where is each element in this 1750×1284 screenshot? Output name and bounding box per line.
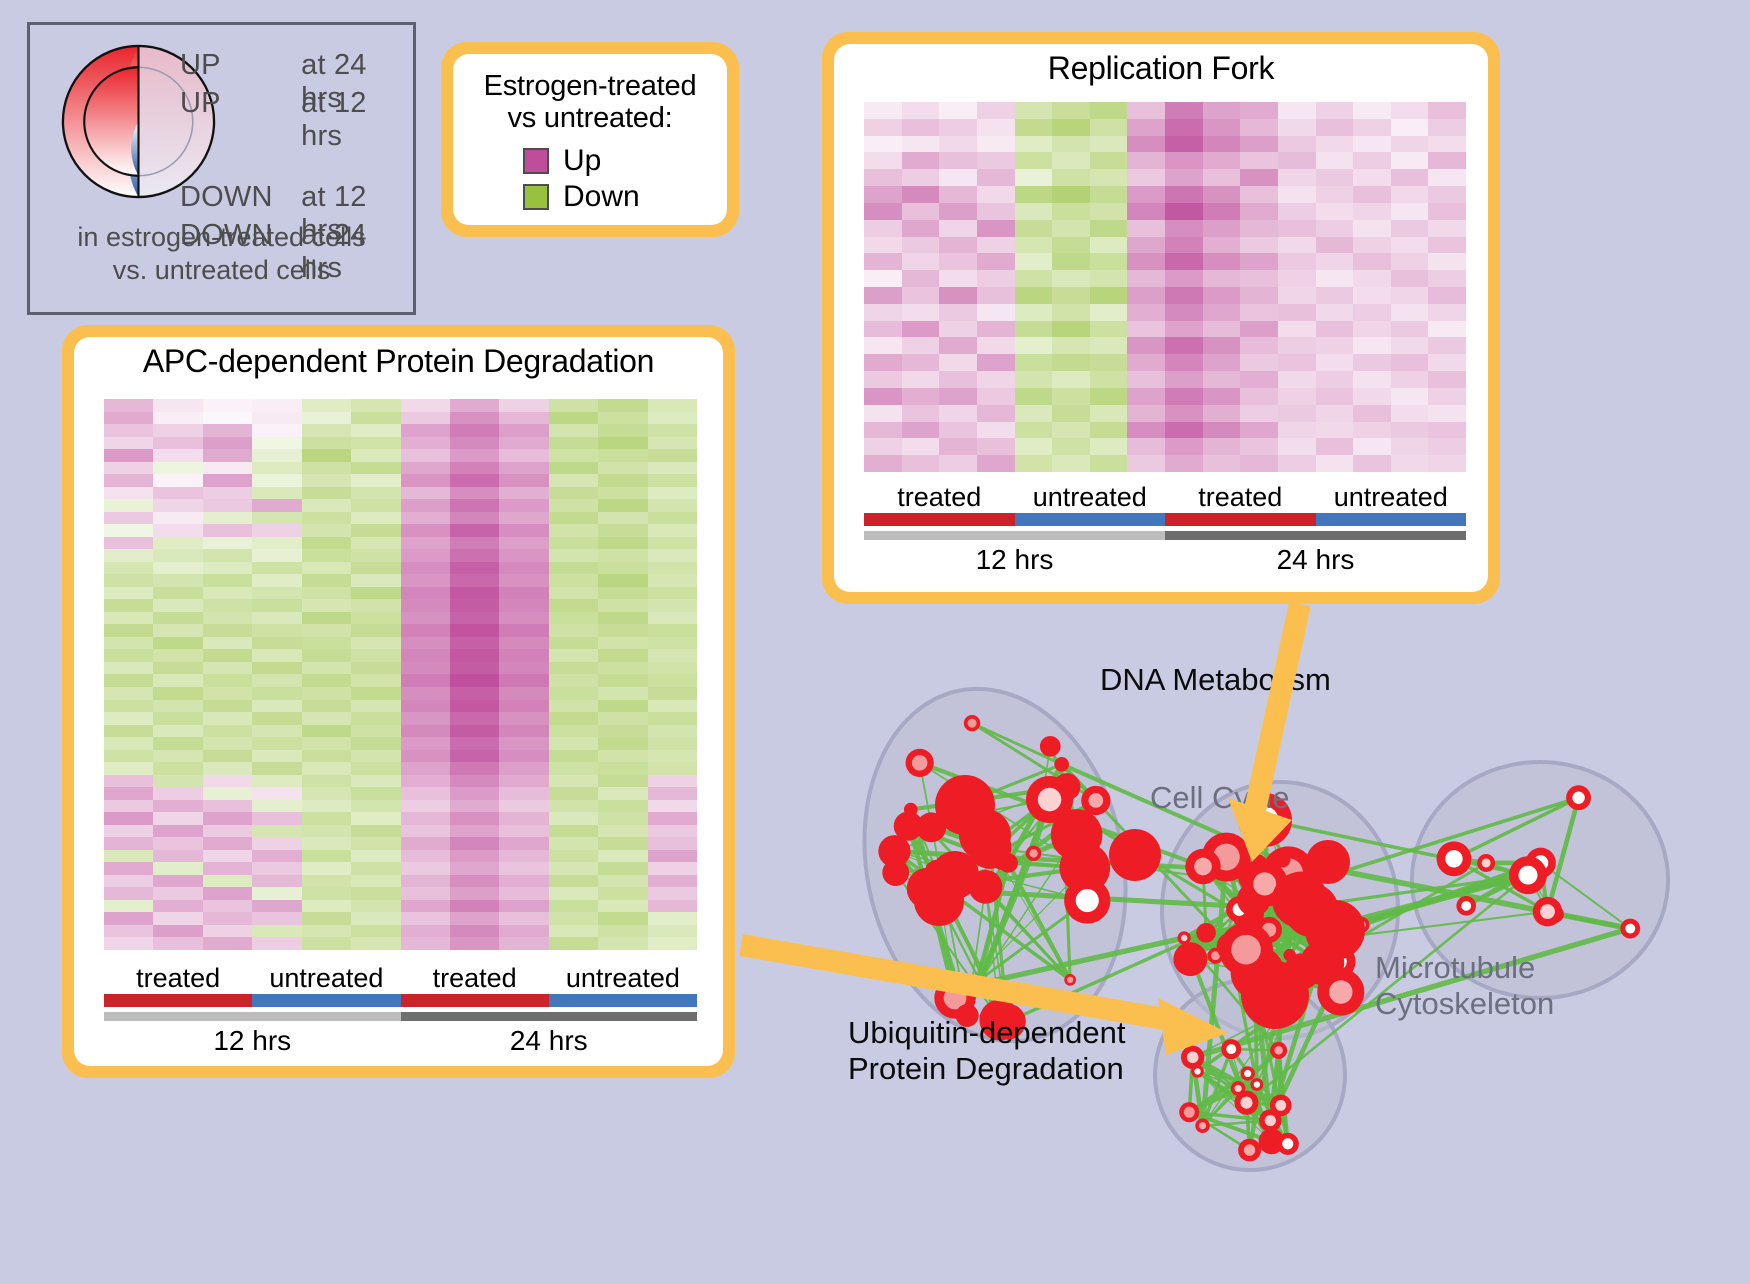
heatmap-cell xyxy=(902,270,940,287)
heatmap-cell xyxy=(401,837,450,850)
heatmap-cell xyxy=(1316,152,1354,169)
timepoint-bar-segment xyxy=(1165,531,1466,540)
network-node xyxy=(1277,1133,1299,1155)
heatmap-cell xyxy=(153,499,202,512)
heatmap-cell xyxy=(902,455,940,472)
heatmap-cell xyxy=(1316,371,1354,388)
heatmap-cell xyxy=(1316,422,1354,439)
heatmap-cell xyxy=(1090,321,1128,338)
heatmap-cell xyxy=(1015,220,1053,237)
heatmap-cell xyxy=(450,462,499,475)
heatmap-cell xyxy=(1090,371,1128,388)
heatmap-cell xyxy=(153,424,202,437)
heatmap-cell xyxy=(153,599,202,612)
timepoint-label: 24 hrs xyxy=(401,1025,698,1057)
network-hub-node xyxy=(931,851,979,899)
heatmap-cell xyxy=(1240,169,1278,186)
heatmap-cell xyxy=(450,612,499,625)
heatmap-cell xyxy=(499,624,548,637)
heatmap-cell xyxy=(499,862,548,875)
heatmap-cell xyxy=(351,762,400,775)
heatmap-cell xyxy=(1203,455,1241,472)
heatmap-cell xyxy=(902,354,940,371)
heatmap-cell xyxy=(499,524,548,537)
heatmap-cell xyxy=(153,800,202,813)
heatmap-cell xyxy=(153,537,202,550)
heatmap-cell xyxy=(203,812,252,825)
heatmap-cell xyxy=(499,687,548,700)
color-key-row: UP at 24 hrs xyxy=(180,49,415,87)
heatmap-cell xyxy=(1428,203,1466,220)
heatmap-cell xyxy=(648,674,697,687)
heatmap-cell xyxy=(648,887,697,900)
heatmap-cell xyxy=(1391,270,1429,287)
heatmap-cell xyxy=(1090,354,1128,371)
heatmap-cell xyxy=(302,574,351,587)
heatmap-cell xyxy=(598,812,647,825)
network-node xyxy=(1477,854,1495,872)
heatmap-cell xyxy=(1428,102,1466,119)
heatmap-cell xyxy=(1240,270,1278,287)
heatmap-cell xyxy=(1127,287,1165,304)
heatmap-cell xyxy=(1203,321,1241,338)
axis-group-label: untreated xyxy=(549,963,697,994)
heatmap-cell xyxy=(1240,371,1278,388)
heatmap-cell xyxy=(1052,152,1090,169)
heatmap-cell xyxy=(450,875,499,888)
heatmap-cell xyxy=(153,512,202,525)
heatmap-cell xyxy=(153,787,202,800)
heatmap-cell xyxy=(104,512,153,525)
heatmap-cell xyxy=(1015,371,1053,388)
heatmap-cell xyxy=(1165,287,1203,304)
heatmap-cell xyxy=(1278,438,1316,455)
heatmap-cell xyxy=(302,437,351,450)
heatmap-cell xyxy=(104,574,153,587)
heatmap-cell xyxy=(252,612,301,625)
heatmap-cell xyxy=(1391,371,1429,388)
heatmap-cell xyxy=(302,624,351,637)
heatmap-cell xyxy=(302,862,351,875)
heatmap-cell xyxy=(1316,337,1354,354)
heatmap-cell xyxy=(401,574,450,587)
heatmap-cell xyxy=(252,449,301,462)
heatmap-cell xyxy=(351,487,400,500)
heatmap-cell xyxy=(1052,438,1090,455)
heatmap-cell xyxy=(450,549,499,562)
heatmap-cell xyxy=(302,700,351,713)
heatmap-cell xyxy=(104,549,153,562)
heatmap-cell xyxy=(1203,422,1241,439)
heatmap-cell xyxy=(104,687,153,700)
heatmap-cell xyxy=(104,499,153,512)
heatmap-cell xyxy=(1240,455,1278,472)
heatmap-cell xyxy=(450,937,499,950)
heatmap-cell xyxy=(351,512,400,525)
heatmap-cell xyxy=(939,237,977,254)
treatment-bar-segment xyxy=(401,994,549,1007)
heatmap-cell xyxy=(598,574,647,587)
heatmap-cell xyxy=(203,424,252,437)
heatmap-cell xyxy=(302,649,351,662)
heatmap-cell xyxy=(1240,304,1278,321)
heatmap-cell xyxy=(1052,321,1090,338)
heatmap-cell xyxy=(302,750,351,763)
heatmap-cell xyxy=(549,524,598,537)
heatmap-cell xyxy=(1127,321,1165,338)
heatmap-cell xyxy=(902,237,940,254)
heatmap-cell xyxy=(104,725,153,738)
heatmap-cell xyxy=(598,524,647,537)
heatmap-cell xyxy=(1015,422,1053,439)
heatmap-cell xyxy=(1203,186,1241,203)
heatmap-cell xyxy=(252,725,301,738)
heatmap-cell xyxy=(939,136,977,153)
heatmap-cell xyxy=(104,637,153,650)
heatmap-cell xyxy=(598,637,647,650)
heatmap-cell xyxy=(939,253,977,270)
heatmap-cell xyxy=(1428,337,1466,354)
heatmap-cell xyxy=(977,405,1015,422)
heatmap-cell xyxy=(351,462,400,475)
heatmap-cell xyxy=(1127,337,1165,354)
heatmap-cell xyxy=(1353,102,1391,119)
heatmap-cell xyxy=(1165,354,1203,371)
heatmap-cell xyxy=(401,825,450,838)
heatmap-cell xyxy=(977,354,1015,371)
heatmap-cell xyxy=(598,937,647,950)
heatmap-cell xyxy=(1428,422,1466,439)
heatmap-cell xyxy=(302,599,351,612)
heatmap-cell xyxy=(1278,152,1316,169)
heatmap-cell xyxy=(1278,422,1316,439)
heatmap-cell xyxy=(1428,354,1466,371)
heatmap-cell xyxy=(864,304,902,321)
heatmap-cell xyxy=(1052,455,1090,472)
heatmap-cell xyxy=(153,562,202,575)
heatmap-cell xyxy=(549,712,598,725)
heatmap-cell xyxy=(1391,253,1429,270)
heatmap-cell xyxy=(252,424,301,437)
network-node xyxy=(1270,1042,1287,1059)
heatmap-cell xyxy=(450,637,499,650)
heatmap-cell xyxy=(153,850,202,863)
network-node xyxy=(1238,1139,1261,1162)
heatmap-cell xyxy=(1127,253,1165,270)
heatmap-cell xyxy=(499,937,548,950)
heatmap-cell xyxy=(939,169,977,186)
heatmap-cell xyxy=(153,725,202,738)
key-direction: UP xyxy=(180,49,301,82)
heatmap-cell xyxy=(302,737,351,750)
heatmap-cell xyxy=(252,687,301,700)
heatmap-cell xyxy=(1278,253,1316,270)
heatmap-cell xyxy=(302,424,351,437)
heatmap-cell xyxy=(598,862,647,875)
heatmap-cell xyxy=(153,712,202,725)
heatmap-cell xyxy=(1391,388,1429,405)
heatmap-cell xyxy=(1090,287,1128,304)
heatmap-cell xyxy=(351,725,400,738)
heatmap-cell xyxy=(549,437,598,450)
heatmap-cell xyxy=(351,875,400,888)
heatmap-cell xyxy=(401,537,450,550)
heatmap-cell xyxy=(203,725,252,738)
heatmap-cell xyxy=(648,424,697,437)
heatmap-cell xyxy=(302,637,351,650)
heatmap-cell xyxy=(401,812,450,825)
heatmap-cell xyxy=(302,474,351,487)
heatmap-cell xyxy=(1127,270,1165,287)
heatmap-cell xyxy=(401,937,450,950)
heatmap-cell xyxy=(598,624,647,637)
heatmap-cell xyxy=(1278,321,1316,338)
heatmap-cell xyxy=(104,837,153,850)
heatmap-cell xyxy=(1428,371,1466,388)
heatmap-cell xyxy=(977,203,1015,220)
heatmap-cell xyxy=(1090,388,1128,405)
heatmap-cell xyxy=(401,900,450,913)
heatmap-cell xyxy=(1278,371,1316,388)
heatmap-cell xyxy=(252,825,301,838)
heatmap-cell xyxy=(1353,354,1391,371)
heatmap-cell xyxy=(1052,186,1090,203)
heatmap-cell xyxy=(648,649,697,662)
heatmap-cell xyxy=(977,287,1015,304)
network-node xyxy=(1173,942,1207,976)
heatmap-cell xyxy=(401,912,450,925)
heatmap-cell xyxy=(351,424,400,437)
heatmap-cell xyxy=(1052,422,1090,439)
heatmap-cell xyxy=(598,762,647,775)
heatmap-cell xyxy=(252,937,301,950)
heatmap-cell xyxy=(153,875,202,888)
heatmap-cell xyxy=(977,371,1015,388)
axis-group-labels: treated untreated treated untreated xyxy=(104,963,697,994)
heatmap-cell xyxy=(1052,270,1090,287)
heatmap-cell xyxy=(153,649,202,662)
heatmap-cell xyxy=(104,412,153,425)
heatmap-cell xyxy=(499,812,548,825)
figure-canvas: UP at 24 hrs UP at 12 hrs DOWN at 12 hrs… xyxy=(0,0,1750,1279)
heatmap-cell xyxy=(1353,422,1391,439)
heatmap-cell xyxy=(1428,321,1466,338)
heatmap-cell xyxy=(864,388,902,405)
heatmap-cell xyxy=(401,549,450,562)
heatmap-cell xyxy=(1353,152,1391,169)
heatmap-cell xyxy=(1391,337,1429,354)
heatmap-cell xyxy=(1428,186,1466,203)
heatmap-cell xyxy=(549,487,598,500)
heatmap-cell xyxy=(104,800,153,813)
heatmap-cell xyxy=(1316,237,1354,254)
heatmap-cell xyxy=(351,574,400,587)
heatmap-cell xyxy=(104,862,153,875)
heatmap-cell xyxy=(648,524,697,537)
heatmap-cell xyxy=(252,775,301,788)
heatmap-cell xyxy=(939,405,977,422)
heatmap-cell xyxy=(302,937,351,950)
heatmap-cell xyxy=(1240,422,1278,439)
heatmap-cell xyxy=(648,549,697,562)
heatmap-cell xyxy=(648,412,697,425)
heatmap-cell xyxy=(450,925,499,938)
heatmap-cell xyxy=(203,862,252,875)
heatmap-cell xyxy=(1353,220,1391,237)
heatmap-cell xyxy=(401,737,450,750)
heatmap-cell xyxy=(203,900,252,913)
axis-group-label: treated xyxy=(864,482,1015,513)
heatmap-cell xyxy=(1015,304,1053,321)
heatmap-cell xyxy=(499,925,548,938)
heatmap-cell xyxy=(1015,321,1053,338)
heatmap-cell xyxy=(302,674,351,687)
heatmap-cell xyxy=(401,649,450,662)
heatmap-cell xyxy=(1316,405,1354,422)
heatmap-cell xyxy=(203,787,252,800)
heatmap-cell xyxy=(1203,405,1241,422)
heatmap-cell xyxy=(351,549,400,562)
heatmap-cell xyxy=(598,750,647,763)
timepoint-bar-segment xyxy=(401,1012,698,1021)
heatmap-cell xyxy=(1052,136,1090,153)
network-hub-node xyxy=(959,809,1011,861)
network-node xyxy=(1064,877,1110,923)
heatmap-cell xyxy=(252,875,301,888)
heatmap-cell xyxy=(450,574,499,587)
heatmap-cell xyxy=(1240,136,1278,153)
heatmap-cell xyxy=(153,925,202,938)
network-node xyxy=(1620,919,1640,939)
heatmap-cell xyxy=(1165,186,1203,203)
heatmap-cell xyxy=(648,862,697,875)
heatmap-cell xyxy=(401,725,450,738)
heatmap-cell xyxy=(902,304,940,321)
heatmap-cell xyxy=(252,599,301,612)
heatmap-cell xyxy=(401,850,450,863)
heatmap-cell xyxy=(302,512,351,525)
heatmap-cell xyxy=(1165,152,1203,169)
heatmap-cell xyxy=(1316,220,1354,237)
heatmap-cell xyxy=(598,512,647,525)
panel-title: Replication Fork xyxy=(834,50,1488,87)
heatmap-cell xyxy=(252,512,301,525)
heatmap-cell xyxy=(401,925,450,938)
heatmap-cell xyxy=(549,612,598,625)
heatmap-cell xyxy=(450,562,499,575)
heatmap-cell xyxy=(549,637,598,650)
down-swatch-icon xyxy=(523,184,549,210)
heatmap-cell xyxy=(104,887,153,900)
heatmap-cell xyxy=(401,637,450,650)
heatmap-cell xyxy=(1278,455,1316,472)
heatmap-cell xyxy=(351,562,400,575)
heatmap-cell xyxy=(302,587,351,600)
heatmap-cell xyxy=(1165,220,1203,237)
heatmap-cell xyxy=(153,549,202,562)
heatmap-cell xyxy=(351,474,400,487)
heatmap-cell xyxy=(1090,136,1128,153)
heatmap-cell xyxy=(648,762,697,775)
heatmap-cell xyxy=(302,562,351,575)
heatmap-cell xyxy=(252,850,301,863)
heatmap-cell xyxy=(1165,337,1203,354)
heatmap-cell xyxy=(1015,388,1053,405)
timepoint-label: 12 hrs xyxy=(864,544,1165,576)
heatmap-cell xyxy=(939,455,977,472)
heatmap-cell xyxy=(1316,321,1354,338)
treatment-bar-segment xyxy=(549,994,697,1007)
heatmap-cell xyxy=(1353,438,1391,455)
heatmap-cell xyxy=(351,637,400,650)
heatmap-cell xyxy=(1090,422,1128,439)
heatmap-cell xyxy=(648,687,697,700)
heatmap-cell xyxy=(1278,337,1316,354)
heatmap-grid xyxy=(104,399,697,950)
heatmap-cell xyxy=(1165,438,1203,455)
heatmap-cell xyxy=(1240,102,1278,119)
heatmap-cell xyxy=(1165,388,1203,405)
heatmap-cell xyxy=(939,287,977,304)
heatmap-cell xyxy=(351,587,400,600)
heatmap-cell xyxy=(1015,169,1053,186)
heatmap-cell xyxy=(1391,237,1429,254)
heatmap-cell xyxy=(252,837,301,850)
heatmap-cell xyxy=(598,612,647,625)
heatmap-cell xyxy=(864,186,902,203)
heatmap-cell xyxy=(977,388,1015,405)
legend-title: Estrogen-treated vs untreated: xyxy=(471,70,709,135)
heatmap-cell xyxy=(450,787,499,800)
heatmap-cell xyxy=(1090,237,1128,254)
heatmap-cell xyxy=(203,437,252,450)
heatmap-cell xyxy=(977,169,1015,186)
heatmap-cell xyxy=(1278,237,1316,254)
heatmap-cell xyxy=(153,687,202,700)
heatmap-cell xyxy=(1052,388,1090,405)
heatmap-cell xyxy=(401,562,450,575)
heatmap-cell xyxy=(351,499,400,512)
heatmap-cell xyxy=(864,102,902,119)
heatmap-cell xyxy=(252,587,301,600)
heatmap-cell xyxy=(1165,136,1203,153)
heatmap-cell xyxy=(499,587,548,600)
heatmap-cell xyxy=(302,462,351,475)
heatmap-cell xyxy=(1127,237,1165,254)
heatmap-cell xyxy=(1203,220,1241,237)
heatmap-cell xyxy=(1165,455,1203,472)
heatmap-cell xyxy=(1127,186,1165,203)
heatmap-cell xyxy=(598,587,647,600)
heatmap-cell xyxy=(598,562,647,575)
heatmap-cell xyxy=(203,537,252,550)
heatmap-cell xyxy=(302,524,351,537)
heatmap-cell xyxy=(153,912,202,925)
heatmap-cell xyxy=(648,599,697,612)
network-node xyxy=(894,811,923,840)
heatmap-cell xyxy=(450,687,499,700)
heatmap-cell xyxy=(1278,354,1316,371)
heatmap-cell xyxy=(450,599,499,612)
heatmap-cell xyxy=(648,775,697,788)
heatmap-cell xyxy=(648,449,697,462)
heatmap-cell xyxy=(1052,220,1090,237)
heatmap-cell xyxy=(450,624,499,637)
heatmap-cell xyxy=(598,399,647,412)
heatmap-cell xyxy=(598,850,647,863)
heatmap-cell xyxy=(1165,405,1203,422)
heatmap-cell xyxy=(401,587,450,600)
